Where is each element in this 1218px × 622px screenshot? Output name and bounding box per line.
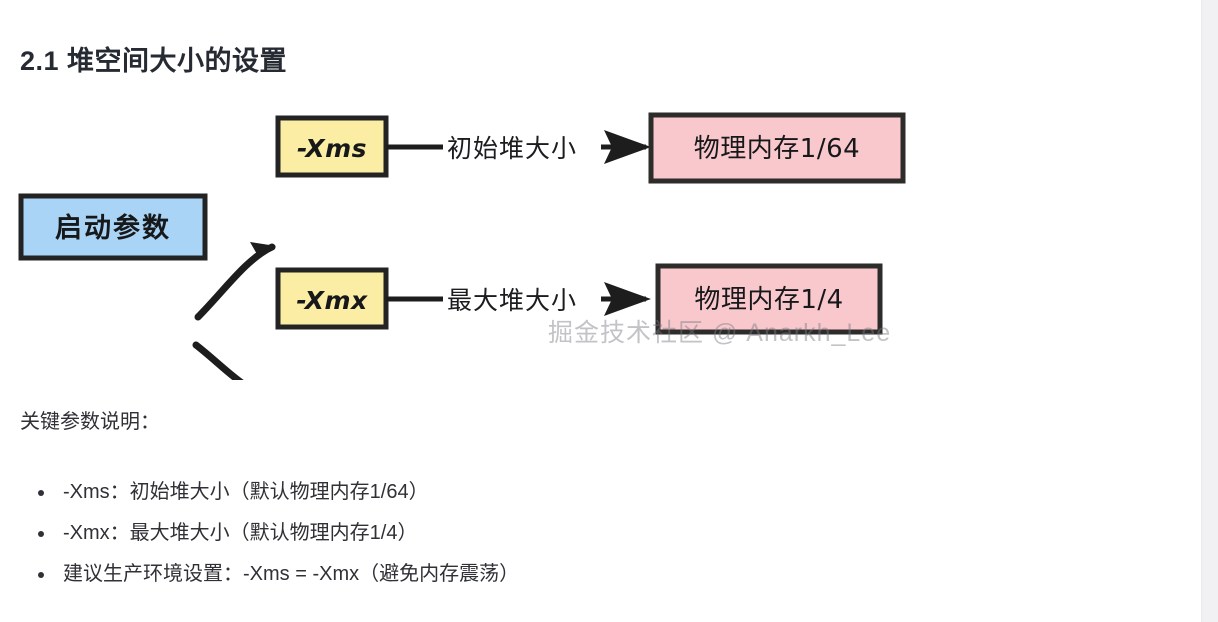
key-params-list: -Xms：初始堆大小（默认物理内存1/64） -Xmx：最大堆大小（默认物理内存… [20,472,1120,595]
edge-max-heap-size-label: 最大堆大小 [447,287,577,315]
vertical-scrollbar[interactable] [1201,0,1218,622]
list-item-text: 建议生产环境设置：-Xms = -Xmx（避免内存震荡） [63,563,519,585]
list-item: -Xmx：最大堆大小（默认物理内存1/4） [20,513,1120,554]
node-physical-memory-1-4: 物理内存1/4 [658,266,880,332]
list-item-text: -Xms：初始堆大小（默认物理内存1/64） [63,481,429,503]
edge-initial-heap-size: 初始堆大小 [386,130,651,164]
node-xmx-label: -Xmx [296,286,368,315]
edge-max-heap-size: 最大堆大小 [386,282,651,316]
arrow-to-xmx [196,345,277,380]
bullet-dot-icon [38,490,44,496]
page-content: 2.1 堆空间大小的设置 启动参数 -Xms [0,0,1201,622]
node-startup-params-label: 启动参数 [55,212,171,244]
page-title: 2.1 堆空间大小的设置 [20,39,287,78]
node-startup-params: 启动参数 [21,196,205,258]
heap-size-diagram: 启动参数 -Xms 初始堆大小 物理内存1/64 - [0,95,1000,380]
node-physical-memory-1-4-label: 物理内存1/4 [694,285,843,315]
bullet-dot-icon [38,531,44,537]
arrow-to-xms [198,242,276,317]
edge-initial-heap-size-label: 初始堆大小 [447,135,577,163]
node-physical-memory-1-64: 物理内存1/64 [651,115,903,181]
bullet-dot-icon [38,572,44,578]
list-item: 建议生产环境设置：-Xms = -Xmx（避免内存震荡） [20,554,1120,595]
node-physical-memory-1-64-label: 物理内存1/64 [694,134,860,164]
key-params-lead: 关键参数说明： [20,405,160,434]
list-item-text: -Xmx：最大堆大小（默认物理内存1/4） [63,522,417,544]
node-xms: -Xms [278,118,386,175]
node-xmx: -Xmx [278,270,386,327]
list-item: -Xms：初始堆大小（默认物理内存1/64） [20,472,1120,513]
node-xms-label: -Xms [297,134,367,163]
